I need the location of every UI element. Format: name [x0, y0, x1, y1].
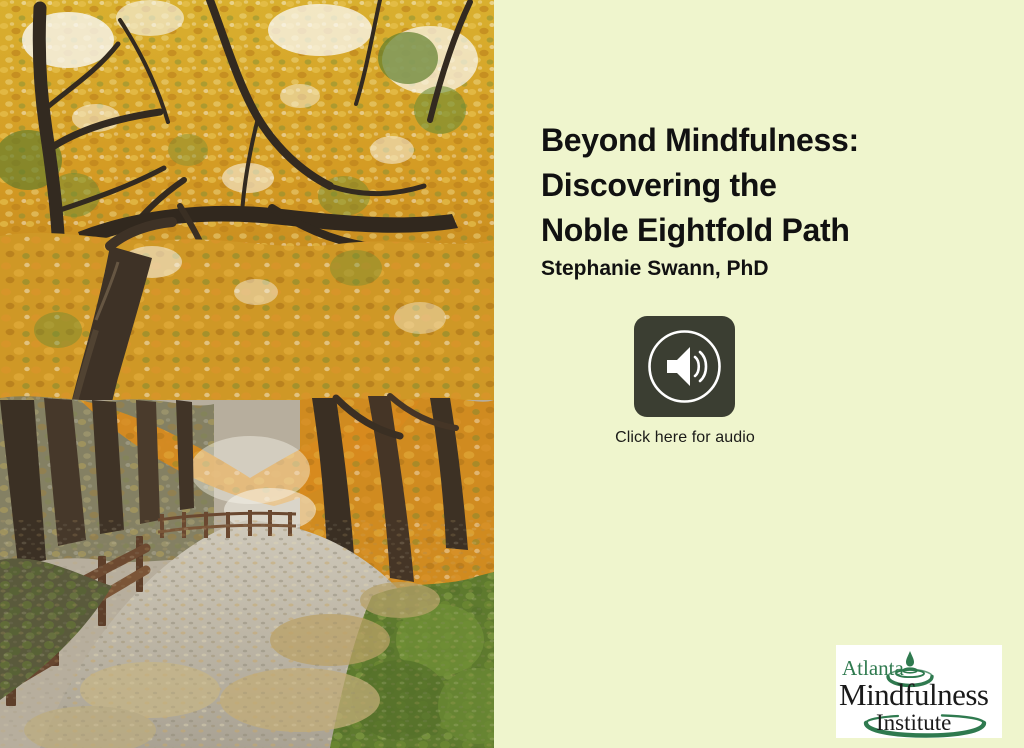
audio-caption[interactable]: Click here for audio [494, 429, 876, 447]
atlanta-mindfulness-institute-logo: Atlanta Mindfulness Institute [836, 645, 1002, 738]
logo-graphic: Atlanta Mindfulness Institute [836, 645, 1002, 738]
audio-play-button[interactable] [634, 316, 735, 417]
page-title-line-2: Discovering the [541, 163, 1001, 208]
logo-line-mindfulness: Mindfulness [839, 677, 989, 712]
presenter-name: Stephanie Swann, PhD [541, 255, 1001, 283]
page-title-line-3: Noble Eightfold Path [541, 208, 1001, 253]
title-slide-photo [0, 0, 494, 748]
speaker-icon [634, 316, 735, 417]
canopy-mid [0, 233, 494, 407]
presentation-slide: Beyond Mindfulness: Discovering the Nobl… [0, 0, 1024, 748]
title-block: Beyond Mindfulness: Discovering the Nobl… [541, 118, 1001, 283]
logo-line-institute: Institute [876, 710, 951, 735]
lower-scene [0, 396, 494, 748]
page-title-line-1: Beyond Mindfulness: [541, 118, 1001, 163]
slide-content-panel: Beyond Mindfulness: Discovering the Nobl… [494, 0, 1024, 748]
autumn-path-illustration [0, 0, 494, 748]
